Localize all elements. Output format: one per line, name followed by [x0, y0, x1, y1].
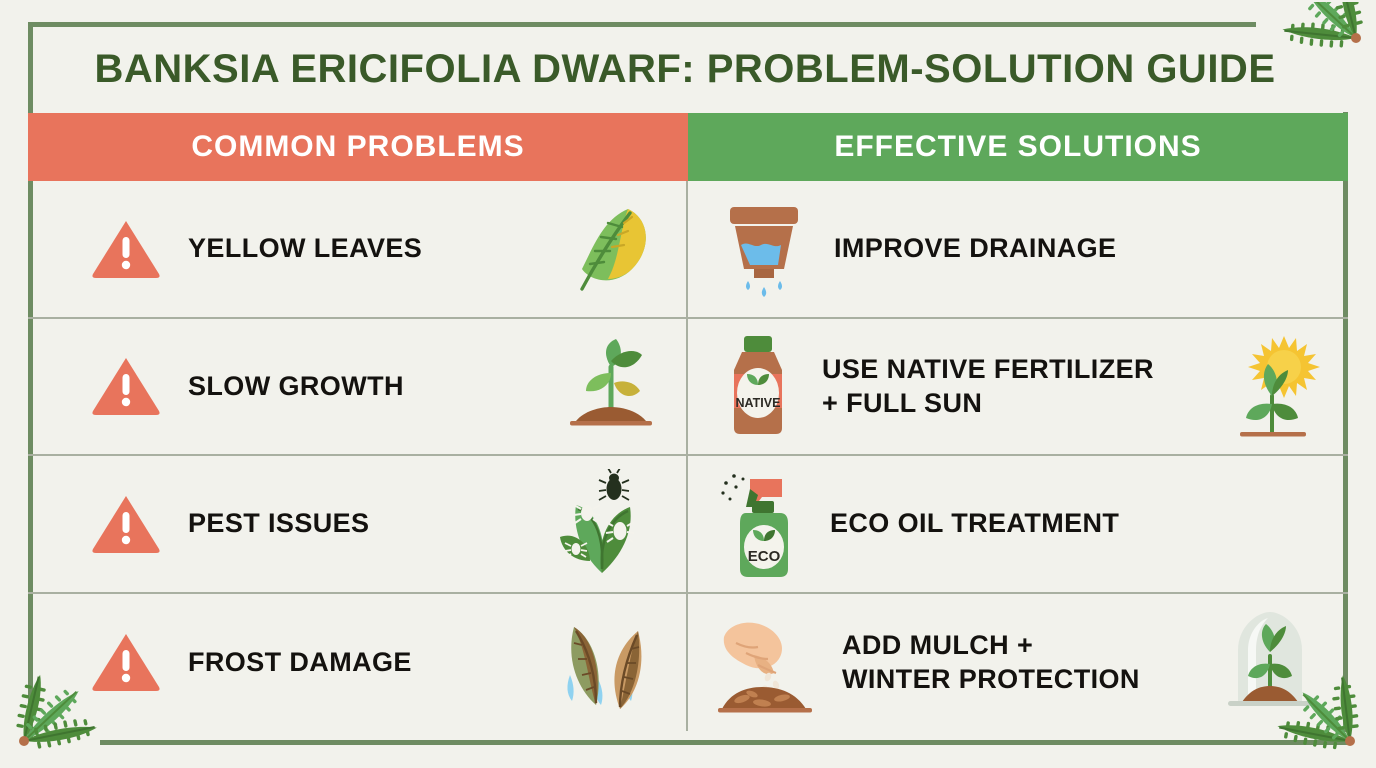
problem-cell: YELLOW LEAVES — [28, 181, 688, 317]
hand-mulching-icon — [716, 607, 820, 717]
table-row: PEST ISSUES — [28, 456, 1348, 594]
solution-artwork — [1210, 330, 1322, 442]
sun-and-plant-icon — [1210, 330, 1322, 442]
table-row: SLOW GROWTH — [28, 319, 1348, 457]
header-common-problems: COMMON PROBLEMS — [28, 113, 688, 181]
page-title: BANKSIA ERICIFOLIA DWARF: PROBLEM-SOLUTI… — [60, 38, 1310, 100]
solution-cell: ECO ECO OIL TREATMENT — [688, 456, 1348, 592]
sun-icon — [1248, 336, 1320, 398]
problem-artwork — [562, 333, 660, 439]
bug-icon — [606, 522, 634, 542]
decoration-bottom-left — [4, 637, 130, 762]
bottle-label-text: ECO — [748, 548, 781, 565]
problem-cell: SLOW GROWTH — [28, 319, 688, 455]
bug-icon — [574, 505, 600, 523]
banksia-leaf-cluster-icon — [4, 637, 130, 757]
bug-icon — [599, 469, 629, 500]
seedling-icon — [562, 333, 660, 439]
spray-mist-icon — [721, 474, 744, 500]
solution-label-line1: ADD MULCH + — [842, 628, 1140, 663]
frame-accent-bottom — [100, 740, 1348, 745]
banksia-leaf-cluster-icon — [1244, 635, 1372, 759]
problem-label: SLOW GROWTH — [188, 369, 404, 404]
yellowing-leaf-icon — [568, 201, 660, 297]
solution-label: USE NATIVE FERTILIZER + FULL SUN — [822, 352, 1154, 421]
problem-artwork — [552, 609, 660, 715]
warning-triangle-icon — [90, 354, 162, 418]
spray-bottle-icon: ECO — [716, 465, 808, 583]
draining-pot-icon — [716, 199, 812, 299]
decoration-top-right — [1264, 2, 1376, 119]
warning-triangle-icon — [90, 492, 162, 556]
bottle-label-text: NATIVE — [736, 396, 781, 410]
table-row: FROST DAMAGE — [28, 594, 1348, 732]
banksia-leaf-cluster-icon — [1264, 2, 1376, 114]
problem-cell: PEST ISSUES — [28, 456, 688, 592]
problem-artwork — [550, 469, 660, 579]
warning-triangle-icon — [90, 217, 162, 281]
solution-label: ADD MULCH + WINTER PROTECTION — [842, 628, 1140, 697]
problem-label: PEST ISSUES — [188, 506, 369, 541]
solution-cell: NATIVE USE NATIVE FERTILIZER + FULL SUN — [688, 319, 1348, 455]
solution-label-line2: WINTER PROTECTION — [842, 662, 1140, 697]
frost-damaged-leaves-icon — [552, 609, 660, 715]
problem-label: FROST DAMAGE — [188, 645, 412, 680]
fertilizer-bottle-icon: NATIVE — [716, 330, 800, 442]
table-row: YELLOW LEAVES — [28, 181, 1348, 319]
problem-artwork — [568, 201, 660, 297]
solution-cell: IMPROVE DRAINAGE — [688, 181, 1348, 317]
bug-icon — [565, 543, 587, 557]
table-header-row: COMMON PROBLEMS EFFECTIVE SOLUTIONS — [28, 113, 1348, 181]
solution-label: IMPROVE DRAINAGE — [834, 231, 1116, 266]
table-body: YELLOW LEAVES — [28, 181, 1348, 731]
solution-label-line2: + FULL SUN — [822, 386, 1154, 421]
problem-label: YELLOW LEAVES — [188, 231, 422, 266]
header-effective-solutions: EFFECTIVE SOLUTIONS — [688, 113, 1348, 181]
solution-label-line1: USE NATIVE FERTILIZER — [822, 352, 1154, 387]
infographic-canvas: BANKSIA ERICIFOLIA DWARF: PROBLEM-SOLUTI… — [0, 0, 1376, 768]
solution-label: ECO OIL TREATMENT — [830, 506, 1119, 541]
decoration-bottom-right — [1244, 635, 1372, 764]
leaves-with-bugs-icon — [550, 469, 660, 579]
problem-solution-table: COMMON PROBLEMS EFFECTIVE SOLUTIONS YELL… — [28, 113, 1348, 731]
